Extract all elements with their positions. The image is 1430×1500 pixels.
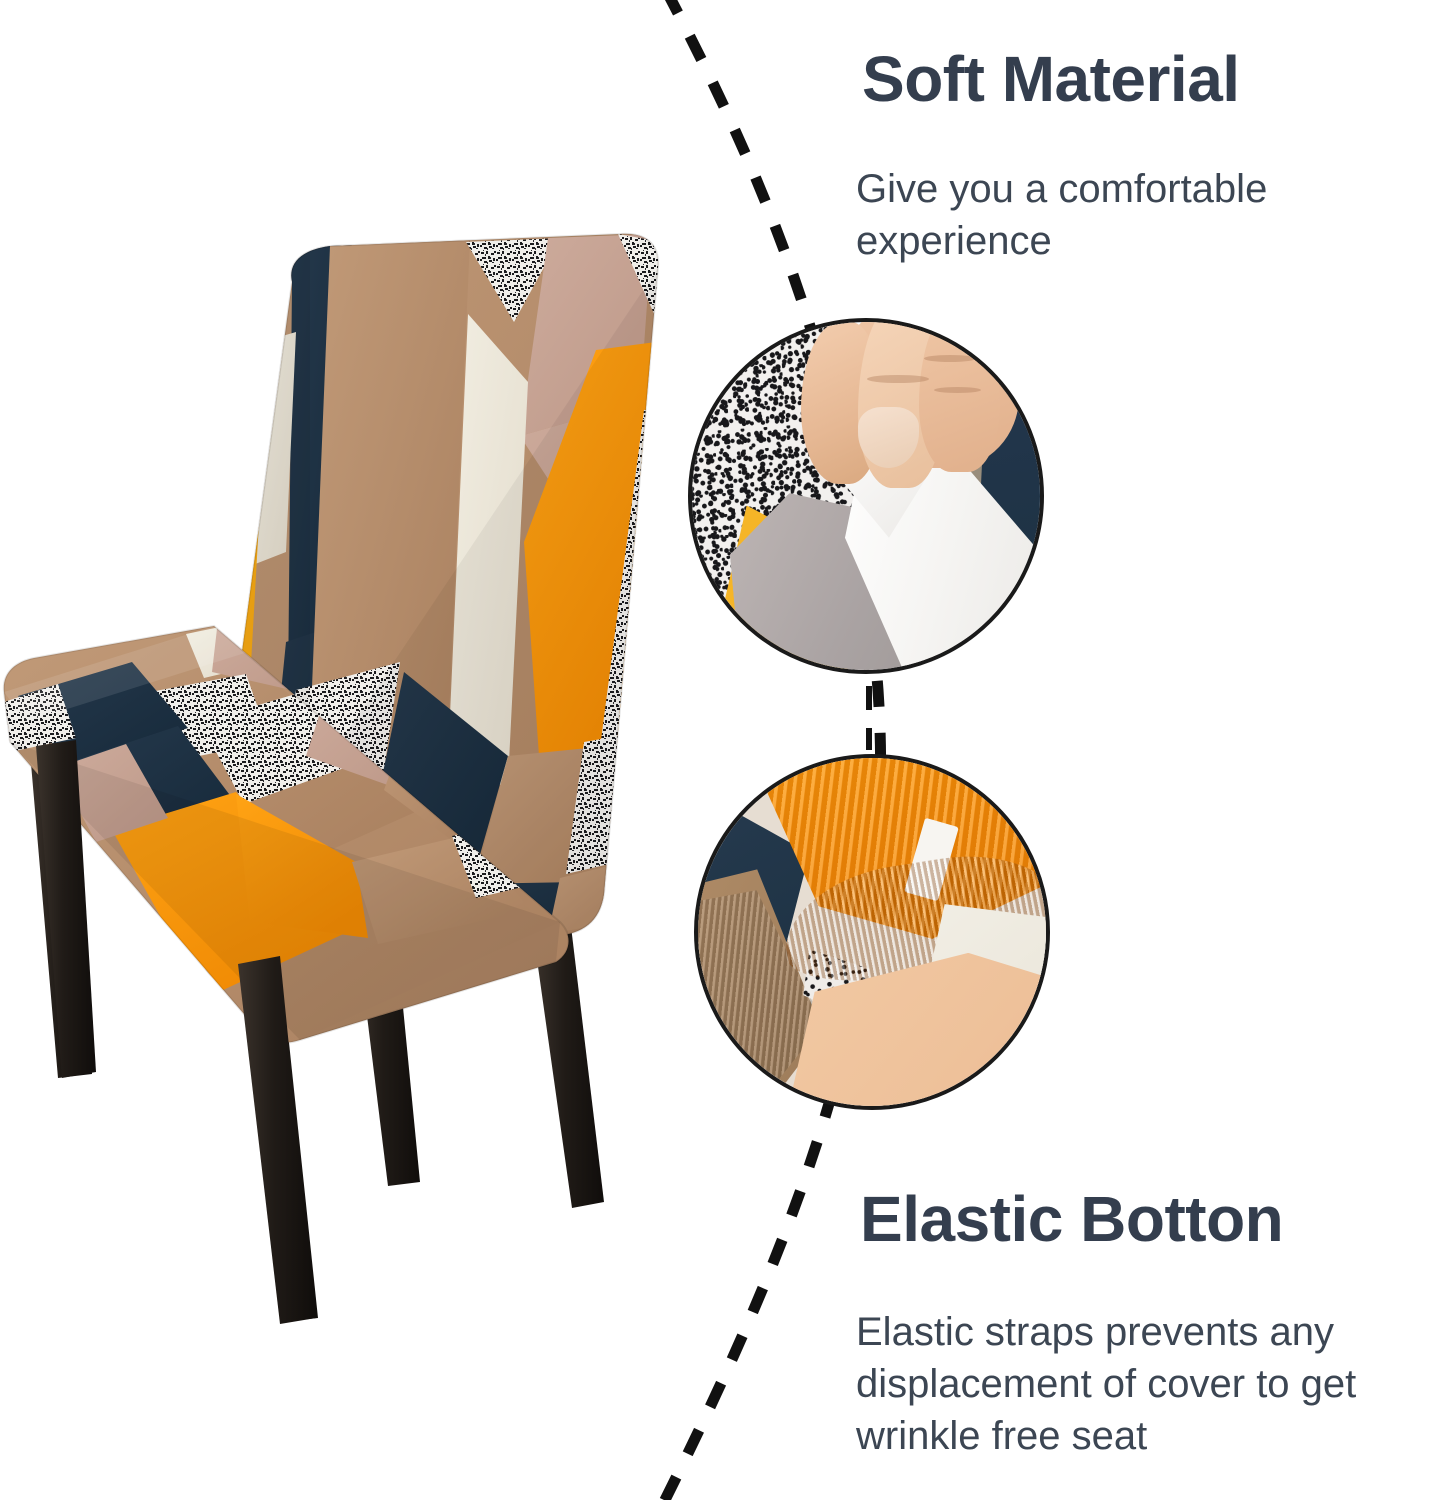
soft-material-title: Soft Material (862, 46, 1240, 113)
dashed-connector-icon (866, 684, 872, 752)
elastic-gathered-hem-icon (698, 758, 1046, 1106)
upholstered-dining-chair-icon (0, 222, 690, 1332)
soft-material-detail-circle (688, 318, 1044, 674)
infographic-stage: Soft Material Give you a comfortable exp… (0, 0, 1430, 1500)
finger-ring (919, 318, 999, 472)
elastic-bottom-description: Elastic straps prevents any displacement… (856, 1306, 1430, 1462)
elastic-bottom-title: Elastic Botton (860, 1186, 1283, 1253)
elastic-bottom-detail-circle (694, 754, 1050, 1110)
soft-material-description: Give you a comfortable experience (856, 163, 1416, 267)
hand-pinching-fabric-icon (692, 322, 1040, 670)
hand-illustration (796, 318, 1033, 496)
